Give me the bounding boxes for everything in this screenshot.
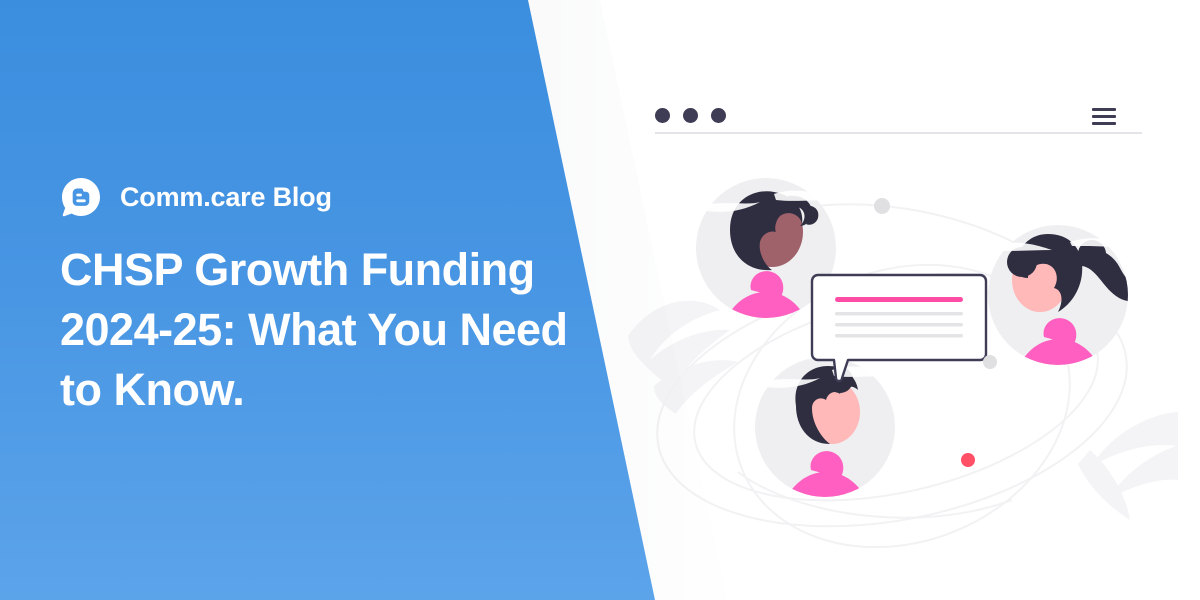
browser-window-chrome — [655, 104, 1142, 138]
chat-line-3 — [835, 334, 963, 338]
blog-hero-banner: Comm.care Blog CHSP Growth Funding 2024-… — [0, 0, 1200, 600]
browser-divider — [655, 132, 1142, 134]
hamburger-menu-icon[interactable] — [1092, 108, 1116, 125]
chat-bubble — [812, 275, 986, 381]
accent-dot-gray-mid — [983, 355, 997, 369]
blogger-speech-bubble-icon — [60, 176, 102, 218]
accent-dot-gray-top — [874, 198, 890, 214]
brand-name: Comm.care Blog — [120, 182, 332, 213]
leaf-decoration-left — [628, 301, 738, 414]
chat-line-2 — [835, 323, 963, 327]
chat-line-1 — [835, 312, 963, 316]
window-dot-3[interactable] — [711, 108, 726, 123]
hamburger-bar-1 — [1092, 108, 1116, 111]
brand-row[interactable]: Comm.care Blog — [60, 176, 332, 218]
accent-dot-pink — [961, 453, 975, 467]
window-dot-1[interactable] — [655, 108, 670, 123]
window-dot-2[interactable] — [683, 108, 698, 123]
page-title: CHSP Growth Funding 2024-25: What You Ne… — [60, 240, 600, 420]
leaf-decoration-right — [1078, 412, 1178, 520]
hamburger-bar-3 — [1092, 122, 1116, 125]
window-controls — [655, 108, 726, 123]
chat-line-accent — [835, 297, 963, 302]
people-chat-illustration — [620, 150, 1180, 550]
hamburger-bar-2 — [1092, 115, 1116, 118]
